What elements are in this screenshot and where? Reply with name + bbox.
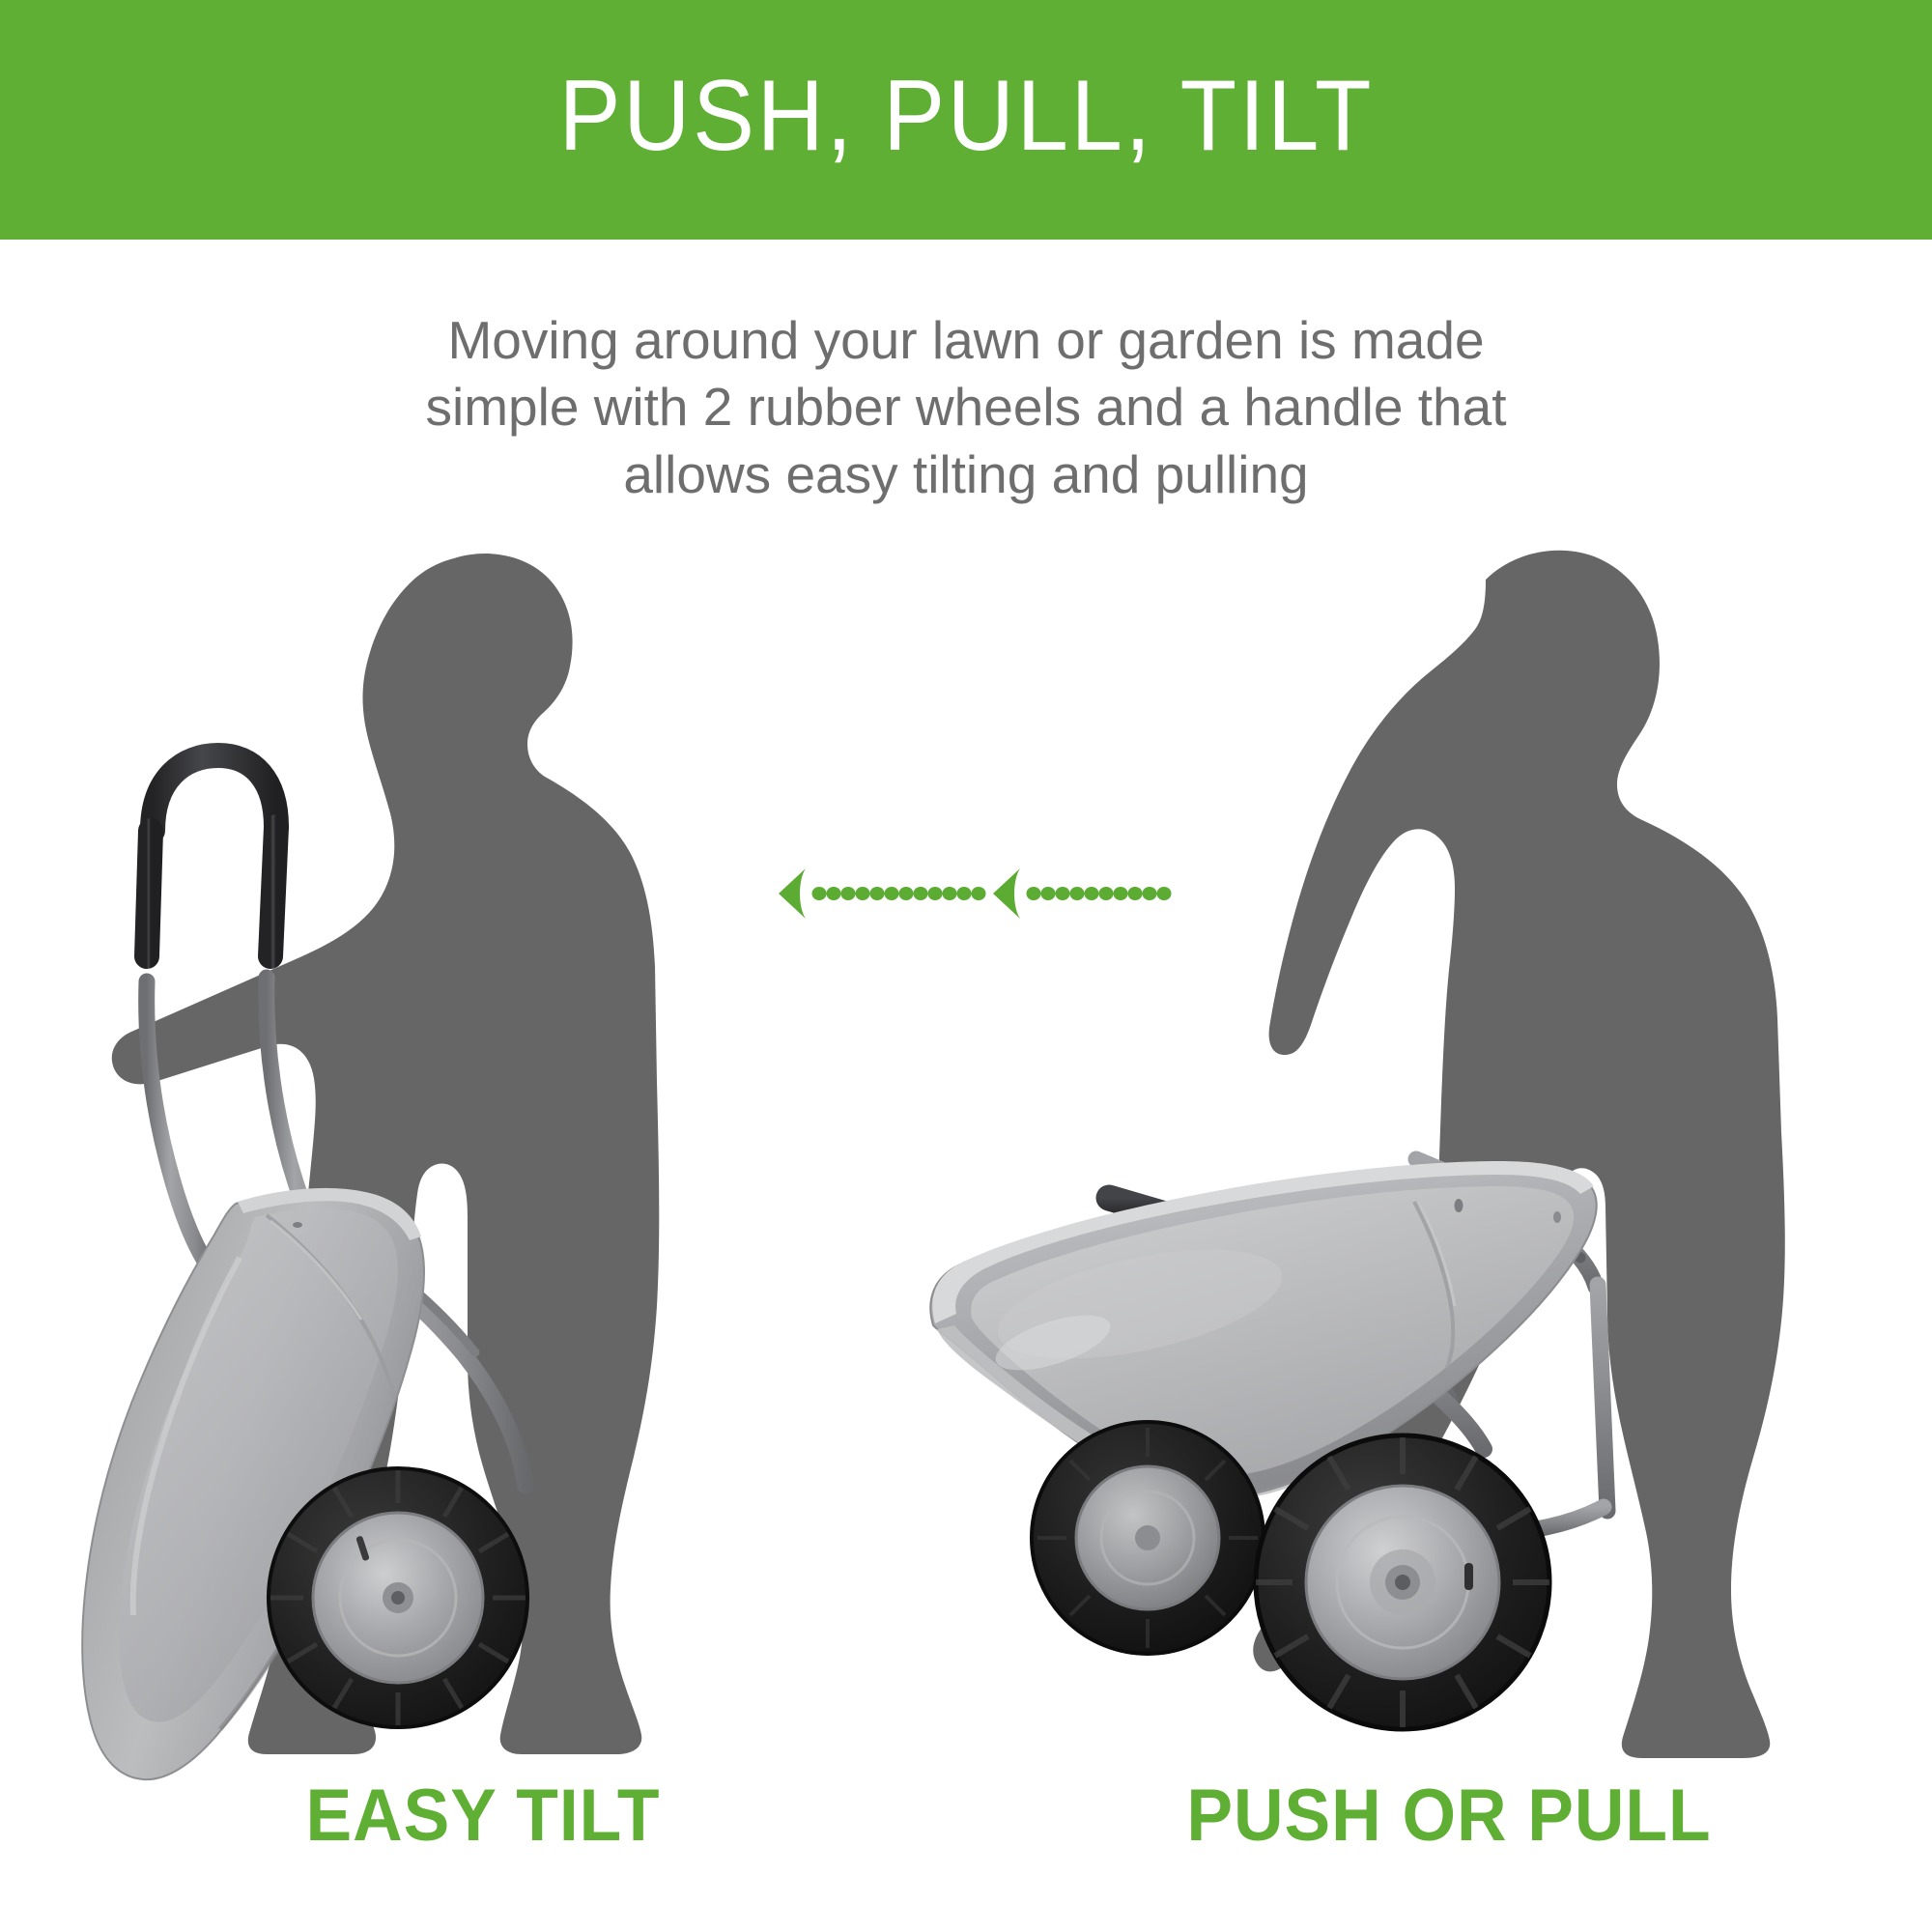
easy-tilt-illustration [39, 541, 811, 1758]
subtitle-line-2: simple with 2 rubber wheels and a handle… [328, 374, 1604, 440]
infographic-root: PUSH, PULL, TILT Moving around your lawn… [0, 0, 1932, 1932]
caption-push-or-pull: PUSH OR PULL [995, 1779, 1903, 1853]
subtitle-line-1: Moving around your lawn or garden is mad… [328, 307, 1604, 374]
push-or-pull-illustration [898, 541, 1884, 1758]
wheelbarrow-tub [930, 1161, 1596, 1499]
subtitle-line-3: allows easy tilting and pulling [328, 441, 1604, 508]
handle-grip-bar [147, 755, 276, 956]
header-banner: PUSH, PULL, TILT [0, 0, 1932, 240]
scene-push-or-pull [898, 541, 1671, 1758]
wheelbarrow-wheel-far [1032, 1422, 1264, 1654]
wheelbarrow-wheel-rear [269, 1468, 527, 1727]
wheelbarrow-wheel-near [1256, 1435, 1549, 1729]
caption-easy-tilt: EASY TILT [29, 1779, 937, 1853]
page-title: PUSH, PULL, TILT [558, 66, 1374, 174]
scene-easy-tilt [39, 541, 811, 1758]
subtitle-block: Moving around your lawn or garden is mad… [328, 307, 1604, 508]
scenes-area [0, 541, 1932, 1758]
